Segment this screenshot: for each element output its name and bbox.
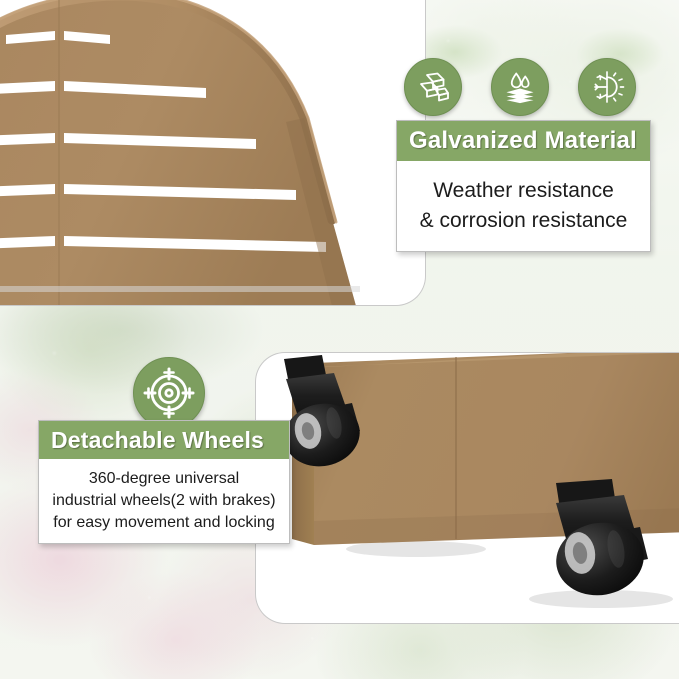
louvered-arch-door-photo <box>0 0 386 306</box>
feature-line: for easy movement and locking <box>53 514 274 532</box>
sun-snowflake-icon <box>578 58 636 116</box>
feature-line: Weather resistance <box>433 179 614 203</box>
wheel-target-icon <box>133 357 205 429</box>
infographic-canvas: Galvanized Material Weather resistance &… <box>0 0 679 679</box>
feature-title-galvanized-material: Galvanized Material <box>397 121 650 161</box>
feature-title-detachable-wheels: Detachable Wheels <box>39 421 289 459</box>
feature-description-detachable-wheels: 360-degree universal industrial wheels(2… <box>39 459 289 544</box>
feature-description-galvanized-material: Weather resistance & corrosion resistanc… <box>397 161 650 252</box>
cabinet-casters-panel <box>255 352 679 624</box>
cabinet-base-casters-photo <box>256 353 679 624</box>
feature-line: 360-degree universal <box>89 470 239 488</box>
louvered-door-panel <box>0 0 426 306</box>
feature-line: & corrosion resistance <box>420 209 628 233</box>
water-droplets-layers-icon <box>491 58 549 116</box>
metal-ingots-icon <box>404 58 462 116</box>
feature-card-galvanized-material: Galvanized Material Weather resistance &… <box>396 120 651 252</box>
feature-line: industrial wheels(2 with brakes) <box>52 492 275 510</box>
feature-card-detachable-wheels: Detachable Wheels 360-degree universal i… <box>38 420 290 544</box>
